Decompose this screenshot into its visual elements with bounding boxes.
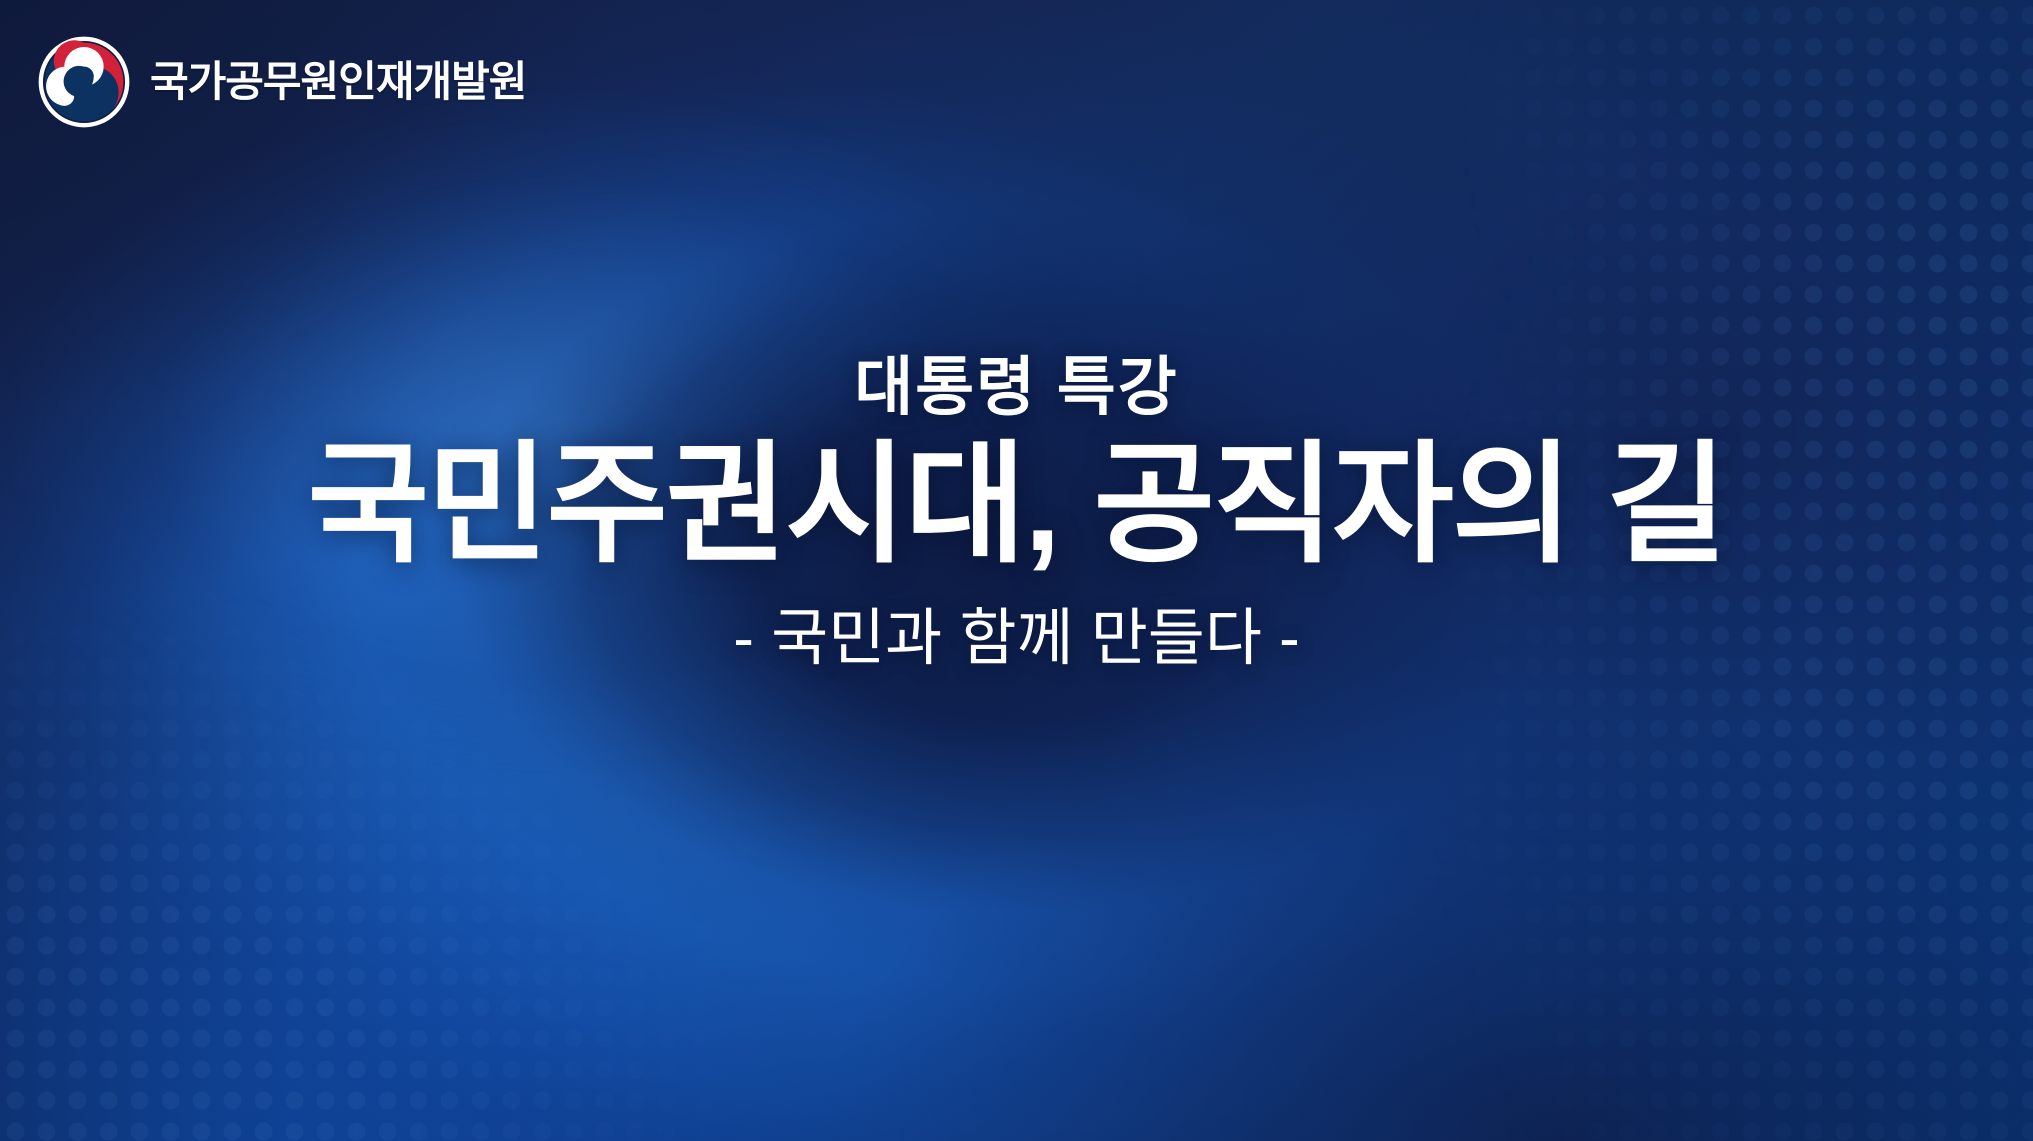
page-title: 국민주권시대, 공직자의 길	[0, 432, 2033, 577]
organization-wordmark: 국가공무원인재개발원	[150, 61, 526, 103]
subtitle-label: - 국민과 함께 만들다 -	[0, 603, 2033, 674]
korea-government-taegeuk-icon	[36, 34, 132, 130]
title-block: 대통령 특강 국민주권시대, 공직자의 길 - 국민과 함께 만들다 -	[0, 352, 2033, 674]
eyebrow-label: 대통령 특강	[0, 352, 2033, 424]
slide-canvas: 국가공무원인재개발원 대통령 특강 국민주권시대, 공직자의 길 - 국민과 함…	[0, 0, 2033, 1141]
organization-logo-lockup: 국가공무원인재개발원	[36, 34, 526, 130]
